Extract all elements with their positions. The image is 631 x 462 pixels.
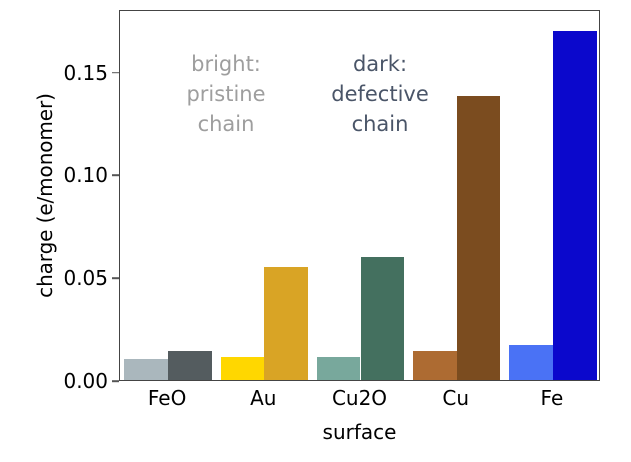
bar-fe-dark (553, 31, 597, 380)
x-tick-label-fe: Fe (541, 386, 564, 410)
bar-cu-bright (413, 351, 457, 380)
y-tick-mark (112, 277, 119, 279)
bar-fe-bright (509, 345, 553, 380)
x-tick-label-au: Au (250, 386, 276, 410)
y-tick-label: 0.05 (46, 266, 108, 290)
bar-cu-dark (457, 96, 501, 380)
bar-au-dark (264, 267, 308, 380)
y-tick-mark (112, 380, 119, 382)
bar-au-bright (221, 357, 265, 380)
y-tick-mark (112, 175, 119, 177)
bar-feo-dark (168, 351, 212, 380)
bright-annotation: bright: pristine chain (156, 49, 296, 139)
bar-feo-bright (124, 359, 168, 380)
x-axis-tick-labels: FeOAuCu2OCuFe (119, 386, 600, 416)
y-tick-mark (112, 72, 119, 74)
x-tick-label-cu2o: Cu2O (332, 386, 387, 410)
x-tick-label-feo: FeO (148, 386, 186, 410)
x-axis-label: surface (119, 420, 600, 444)
bar-chart-figure: charge (e/monomer) 0.000.050.100.15 brig… (0, 0, 631, 462)
x-tick-label-cu: Cu (442, 386, 469, 410)
bar-cu2o-dark (361, 257, 405, 380)
y-axis-tick-labels: 0.000.050.100.15 (46, 0, 108, 462)
plot-area: bright: pristine chaindark: defective ch… (119, 10, 600, 381)
dark-annotation: dark: defective chain (300, 49, 460, 139)
y-tick-label: 0.00 (46, 369, 108, 393)
bar-cu2o-bright (317, 357, 361, 380)
y-tick-label: 0.10 (46, 163, 108, 187)
y-tick-label: 0.15 (46, 61, 108, 85)
